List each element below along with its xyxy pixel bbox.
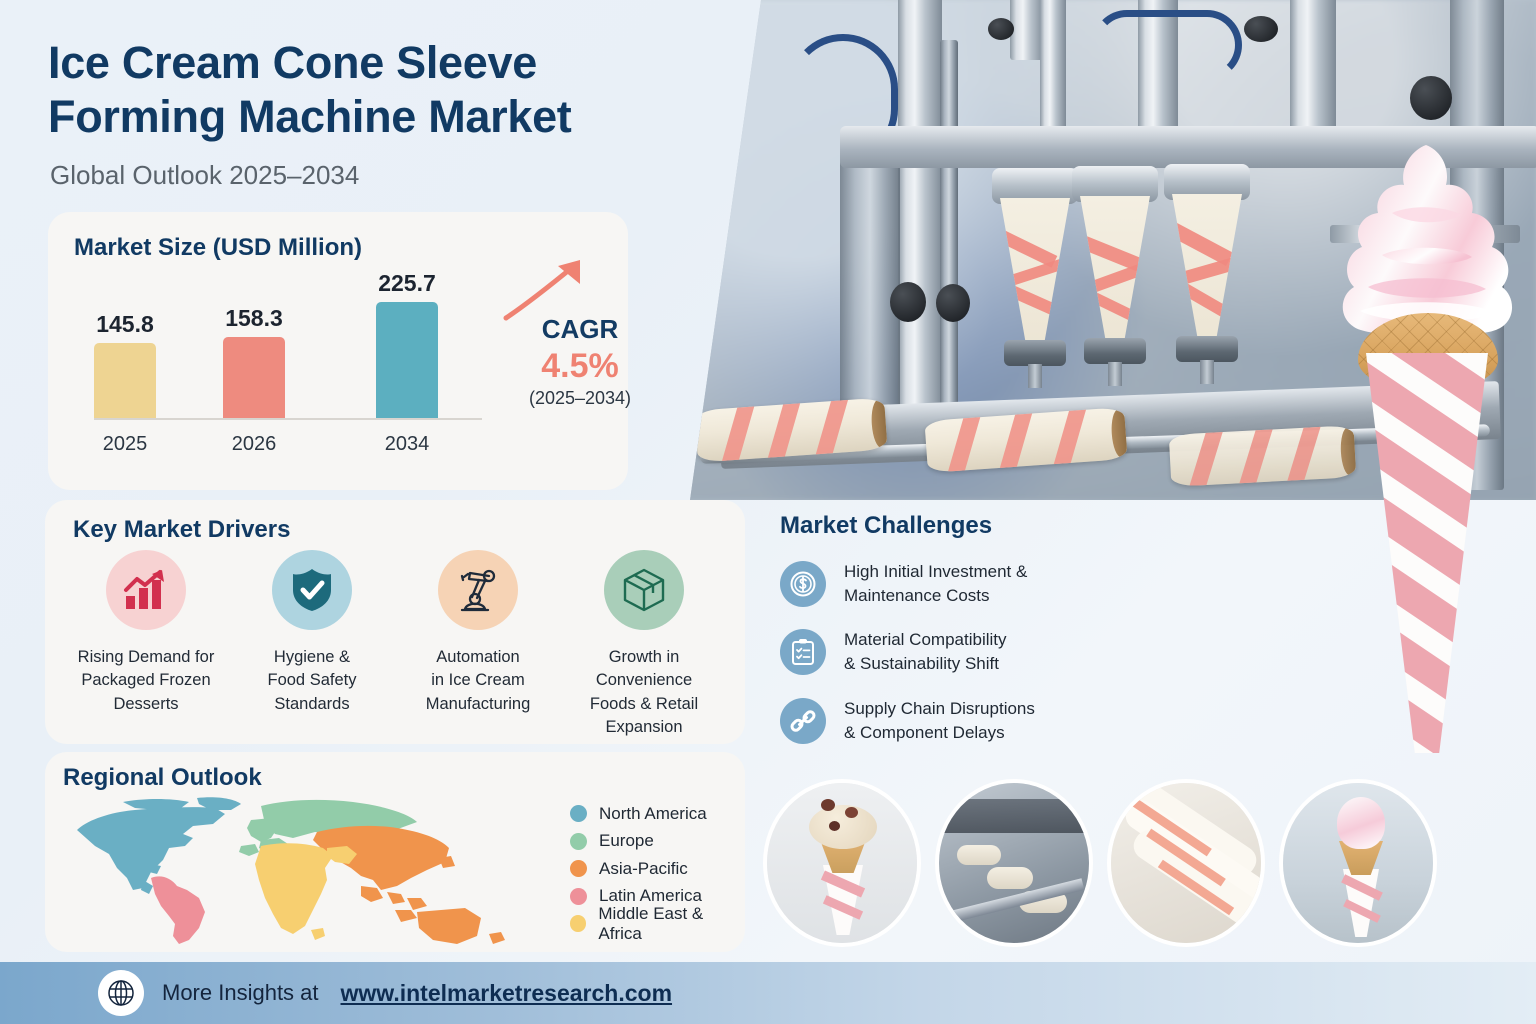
thumbnail-soft-serve-cone[interactable]	[1283, 783, 1433, 943]
legend-label: Europe	[599, 831, 654, 851]
region-title: Regional Outlook	[63, 764, 262, 792]
driver-item-hygiene[interactable]: Hygiene & Food Safety Standards	[229, 550, 395, 740]
region-legend: North America Europe Asia-Pacific Latin …	[570, 800, 745, 938]
cone-chuck	[1084, 338, 1146, 364]
cagr-period: (2025–2034)	[510, 388, 650, 409]
driver-label-line: Manufacturing	[426, 693, 531, 716]
driver-label-line: Standards	[268, 693, 357, 716]
cagr-label: CAGR	[510, 314, 650, 345]
driver-label-line: Rising Demand for	[78, 646, 215, 669]
package-box-icon	[604, 550, 684, 630]
key-market-drivers-card: Key Market Drivers Rising Demand for Pac…	[45, 500, 745, 744]
legend-item-europe[interactable]: Europe	[570, 828, 745, 856]
machine-knob	[936, 284, 970, 322]
driver-label-line: Packaged Frozen	[78, 669, 215, 692]
bar-category-label: 2025	[75, 433, 175, 456]
legend-label: North America	[599, 804, 707, 824]
legend-label: Asia-Pacific	[599, 859, 688, 879]
bar-category-label: 2034	[357, 433, 457, 456]
legend-item-middle-east-africa[interactable]: Middle East & Africa	[570, 910, 745, 938]
chain-link-icon	[780, 698, 826, 744]
challenge-label: Supply Chain Disruptions & Component Del…	[844, 697, 1035, 745]
footer-website-link[interactable]: www.intelmarketresearch.com	[341, 980, 673, 1007]
challenge-item-supply-chain[interactable]: Supply Chain Disruptions & Component Del…	[780, 697, 1340, 745]
cagr-value: 4.5%	[510, 347, 650, 386]
page-subtitle: Global Outlook 2025–2034	[50, 160, 359, 191]
chart-axis-line	[94, 418, 482, 420]
machine-column	[1010, 0, 1044, 60]
page-title: Ice Cream Cone Sleeve Forming Machine Ma…	[48, 36, 708, 145]
machine-knob	[1410, 76, 1452, 120]
machine-column	[898, 0, 942, 420]
challenge-label-line: Material Compatibility	[844, 628, 1007, 652]
challenge-label-line: & Sustainability Shift	[844, 652, 1007, 676]
large-ice-cream-cone-image	[1318, 135, 1533, 760]
driver-label-line: Desserts	[78, 693, 215, 716]
bar-category-label: 2026	[204, 433, 304, 456]
drivers-row: Rising Demand for Packaged Frozen Desser…	[63, 550, 727, 740]
dollar-coin-icon	[780, 561, 826, 607]
machine-column	[1040, 0, 1066, 140]
infographic-page: Ice Cream Cone Sleeve Forming Machine Ma…	[0, 0, 1536, 1024]
challenge-item-material[interactable]: Material Compatibility & Sustainability …	[780, 628, 1340, 676]
challenge-label-line: High Initial Investment &	[844, 560, 1027, 584]
robot-arm-icon	[438, 550, 518, 630]
machine-column	[1290, 0, 1336, 130]
legend-dot	[570, 833, 587, 850]
challenge-label-line: Maintenance Costs	[844, 584, 1027, 608]
legend-dot	[570, 888, 587, 905]
machine-column	[940, 40, 958, 430]
bar-2025	[94, 343, 156, 418]
cone-chuck	[1176, 336, 1238, 362]
driver-item-automation[interactable]: Automation in Ice Cream Manufacturing	[395, 550, 561, 740]
challenge-label-line: & Component Delays	[844, 721, 1035, 745]
market-size-card: Market Size (USD Million) 145.8 2025 158…	[48, 212, 628, 490]
bar-2034	[376, 302, 438, 418]
challenge-label-line: Supply Chain Disruptions	[844, 697, 1035, 721]
driver-label-line: in Ice Cream	[426, 669, 531, 692]
challenge-label: High Initial Investment & Maintenance Co…	[844, 560, 1027, 608]
thumbnail-stacked-paper-cone-sleeves[interactable]	[1111, 783, 1261, 943]
legend-dot	[570, 805, 587, 822]
driver-label-line: Expansion	[561, 716, 727, 739]
hose-fitting	[1244, 16, 1278, 42]
photo-thumbnail-row	[767, 783, 1497, 943]
footer-bar: More Insights at www.intelmarketresearch…	[0, 962, 1536, 1024]
driver-label-line: Food Safety	[268, 669, 357, 692]
map-region-asia-pacific	[313, 826, 505, 944]
driver-label-line: Growth in Convenience	[561, 646, 727, 693]
challenges-title: Market Challenges	[780, 512, 1340, 540]
bar-value-label: 225.7	[357, 270, 457, 297]
legend-dot	[570, 915, 586, 932]
driver-label: Hygiene & Food Safety Standards	[268, 646, 357, 716]
drivers-title: Key Market Drivers	[73, 516, 290, 544]
driver-label: Rising Demand for Packaged Frozen Desser…	[78, 646, 215, 716]
thumbnail-ice-cream-cone-with-toppings[interactable]	[767, 783, 917, 943]
driver-item-rising-demand[interactable]: Rising Demand for Packaged Frozen Desser…	[63, 550, 229, 740]
cagr-annotation: CAGR 4.5% (2025–2034)	[510, 314, 650, 409]
driver-label: Growth in Convenience Foods & Retail Exp…	[561, 646, 727, 740]
footer-more-text: More Insights at	[162, 980, 319, 1006]
market-challenges-section: Market Challenges High Initial Investmen…	[780, 512, 1340, 745]
globe-icon	[98, 970, 144, 1016]
blue-hose	[1092, 10, 1242, 80]
driver-label: Automation in Ice Cream Manufacturing	[426, 646, 531, 716]
challenge-item-investment[interactable]: High Initial Investment & Maintenance Co…	[780, 560, 1340, 608]
striped-paper-sleeve	[1366, 353, 1488, 753]
market-size-bar-chart: 145.8 2025 158.3 2026 225.7 2034	[72, 272, 492, 462]
growth-chart-icon	[106, 550, 186, 630]
bar-2026	[223, 337, 285, 418]
thumbnail-cone-sleeve-production-line[interactable]	[939, 783, 1089, 943]
world-map	[65, 794, 535, 946]
driver-label-line: Automation	[426, 646, 531, 669]
legend-item-north-america[interactable]: North America	[570, 800, 745, 828]
map-region-middle-east-africa	[255, 843, 357, 940]
bar-value-label: 145.8	[75, 311, 175, 338]
cone-stem	[1200, 360, 1214, 384]
driver-label-line: Hygiene &	[268, 646, 357, 669]
challenge-label: Material Compatibility & Sustainability …	[844, 628, 1007, 676]
chart-title: Market Size (USD Million)	[74, 234, 362, 262]
shield-check-icon	[272, 550, 352, 630]
bar-value-label: 158.3	[204, 305, 304, 332]
hose-fitting	[988, 18, 1014, 40]
legend-dot	[570, 860, 587, 877]
driver-item-convenience[interactable]: Growth in Convenience Foods & Retail Exp…	[561, 550, 727, 740]
cone-stem	[1028, 364, 1042, 388]
cone-chuck	[1004, 340, 1066, 366]
map-region-latin-america	[151, 876, 205, 944]
legend-item-asia-pacific[interactable]: Asia-Pacific	[570, 855, 745, 883]
driver-label-line: Foods & Retail	[561, 693, 727, 716]
cone-stem	[1108, 362, 1122, 386]
clipboard-checklist-icon	[780, 629, 826, 675]
machine-knob	[890, 282, 926, 322]
legend-label: Middle East & Africa	[598, 904, 745, 944]
regional-outlook-card: Regional Outlook	[45, 752, 745, 952]
